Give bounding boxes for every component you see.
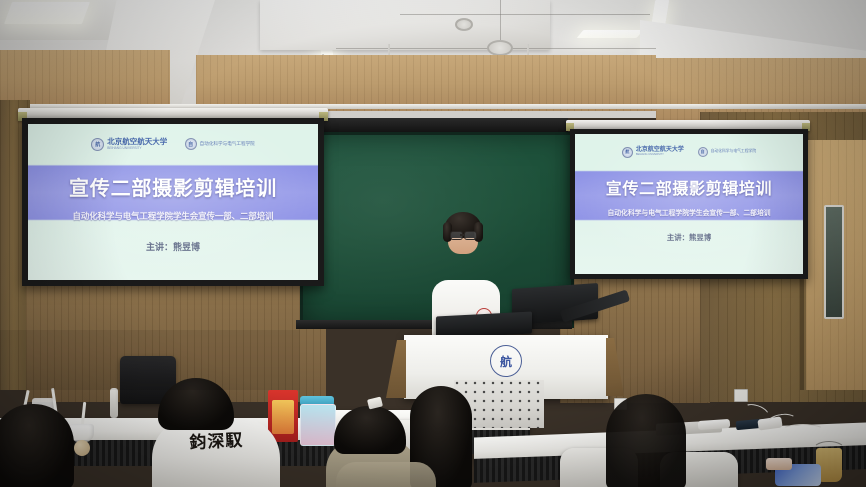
slide-logo-row: 航 北京航空航天大学 BEIHANG UNIVERSITY 自 自动化科学与电气… — [28, 124, 318, 165]
school-logo-text: 自动化科学与电气工程学院 — [711, 150, 757, 154]
beihang-logo-subtext: BEIHANG UNIVERSITY — [636, 154, 684, 157]
right-screen-frame: 航 北京航空航天大学 BEIHANG UNIVERSITY 自 自动化科学与电气… — [570, 129, 808, 279]
left-screen-frame: 航 北京航空航天大学 BEIHANG UNIVERSITY 自 自动化科学与电气… — [22, 118, 324, 286]
ceiling-vent — [455, 18, 473, 31]
slide-speaker: 主讲：熊昱博 — [575, 232, 803, 243]
glasses-bridge — [460, 234, 465, 236]
school-logo-text: 自动化科学与电气工程学院 — [200, 142, 255, 147]
upper-wood-panel — [196, 55, 656, 111]
lecture-hall-photo: 航 北京航空航天大学 BEIHANG UNIVERSITY 自 自动化科学与电气… — [0, 0, 866, 487]
attendee-hair-long — [0, 404, 74, 487]
presenter-glasses — [450, 231, 463, 240]
slide-subtitle: 自动化科学与电气工程学院学生会宣传一部、二部培训 — [575, 207, 803, 217]
beihang-logo-icon: 航 — [622, 147, 633, 158]
slide-speaker: 主讲：熊昱博 — [28, 240, 318, 253]
left-screen-slide: 航 北京航空航天大学 BEIHANG UNIVERSITY 自 自动化科学与电气… — [28, 124, 318, 280]
ceiling-light-strip — [577, 30, 644, 38]
school-logo: 自 自动化科学与电气工程学院 — [185, 138, 255, 150]
presenter-glasses — [464, 231, 477, 240]
beihang-logo-text: 北京航空航天大学 — [107, 138, 167, 146]
slide-logo-row: 航 北京航空航天大学 BEIHANG UNIVERSITY 自 自动化科学与电气… — [575, 134, 803, 170]
door-window — [824, 205, 844, 319]
wall-switch[interactable] — [734, 389, 748, 402]
ceiling-vent — [487, 40, 513, 56]
slide-subtitle: 自动化科学与电气工程学院学生会宣传一部、二部培训 — [28, 210, 318, 222]
beihang-logo: 航 北京航空航天大学 BEIHANG UNIVERSITY — [622, 147, 684, 158]
ceiling-light-strip — [4, 2, 90, 24]
school-logo: 自 自动化科学与电气工程学院 — [698, 147, 757, 157]
ceiling-seam — [400, 14, 650, 15]
snack-box-label — [272, 400, 294, 434]
podium-side — [386, 340, 406, 398]
beihang-logo-icon: 航 — [91, 138, 104, 151]
snack-packet[interactable] — [766, 458, 792, 470]
attendee-silhouette — [606, 394, 686, 487]
chair-frame — [110, 388, 118, 418]
school-logo-icon: 自 — [185, 138, 197, 150]
right-screen-slide: 航 北京航空航天大学 BEIHANG UNIVERSITY 自 自动化科学与电气… — [575, 134, 803, 274]
beihang-logo: 航 北京航空航天大学 BEIHANG UNIVERSITY — [91, 138, 167, 151]
attendee-shirt-calligraphy: 鈞深馭 — [185, 430, 249, 475]
podium-emblem: 航 — [490, 345, 522, 377]
slide-title: 宣传二部摄影剪辑培训 — [575, 175, 803, 199]
snack-ball[interactable] — [74, 440, 90, 456]
attendee-shoulder — [336, 462, 436, 487]
school-logo-icon: 自 — [698, 147, 708, 157]
cable — [782, 424, 824, 436]
beihang-logo-subtext: BEIHANG UNIVERSITY — [107, 147, 167, 150]
slide-title: 宣传二部摄影剪辑培训 — [28, 172, 318, 201]
candy-jar[interactable] — [300, 404, 336, 446]
